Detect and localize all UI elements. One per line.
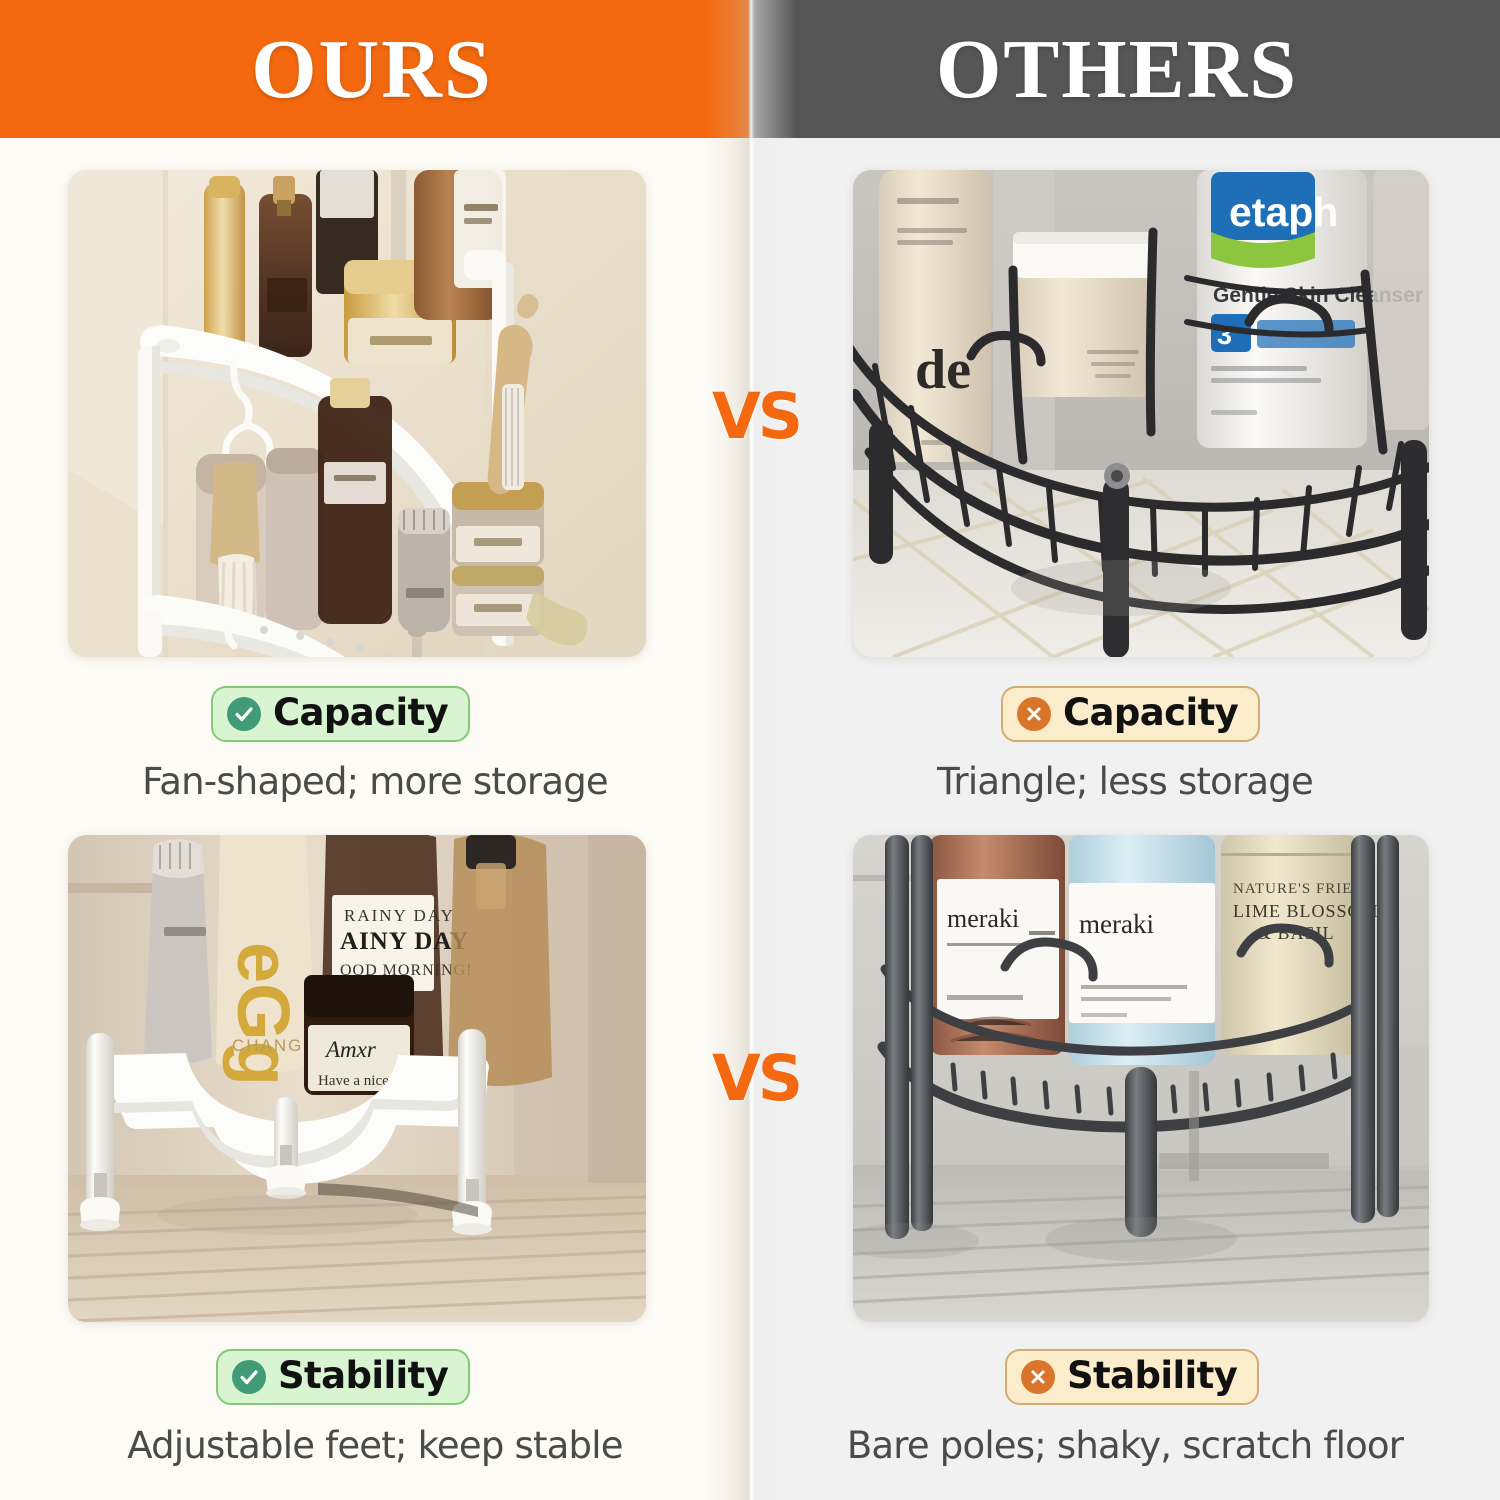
svg-text:eGg: eGg [222,942,305,1086]
ours-capacity-illustration [68,170,646,657]
others-stability-badge-label: Stability [1067,1357,1237,1394]
svg-text:RAINY DAY: RAINY DAY [344,906,455,925]
vs-marker-capacity: VS [712,380,800,453]
svg-text:meraki: meraki [947,904,1019,933]
others-capacity-badge-label: Capacity [1063,694,1238,731]
comparison-infographic: OURS OTHERS [0,0,1500,1500]
ours-header-bar: OURS [0,0,752,138]
ours-stability-badge: Stability [216,1349,470,1405]
svg-text:de: de [915,339,971,401]
x-circle-icon [1021,1360,1055,1394]
ours-stability-badge-label: Stability [278,1357,448,1394]
x-circle-icon [1017,697,1051,731]
others-capacity-badge: Capacity [1001,686,1260,742]
others-capacity-caption: Triangle; less storage [750,760,1500,803]
check-circle-icon [227,697,261,731]
ours-header-title: OURS [251,21,492,118]
ours-capacity-badge: Capacity [211,686,470,742]
ours-capacity-photo [68,170,646,657]
check-circle-icon [232,1360,266,1394]
ours-stability-illustration: eGg CHANGE RAINY DAY AINY DAY OOD MORNIN… [68,835,646,1322]
others-stability-photo: meraki meraki NATURE'S FRIEND LIME BLOSS… [853,835,1429,1322]
others-stability-caption: Bare poles; shaky, scratch floor [750,1424,1500,1467]
svg-text:3: 3 [1217,320,1232,350]
svg-text:Amxr: Amxr [324,1037,377,1062]
svg-text:AINY DAY: AINY DAY [340,928,469,955]
ours-capacity-caption: Fan-shaped; more storage [0,760,750,803]
svg-text:etaph: etaph [1229,189,1338,235]
ours-stability-photo: eGg CHANGE RAINY DAY AINY DAY OOD MORNIN… [68,835,646,1322]
vs-marker-stability: VS [712,1042,800,1115]
others-capacity-photo: de etaph Gentle Skin Cleanser 3 [853,170,1429,657]
others-header-bar: OTHERS [750,0,1500,138]
others-stability-badge: Stability [1005,1349,1259,1405]
others-capacity-illustration: de etaph Gentle Skin Cleanser 3 [853,170,1429,657]
ours-stability-caption: Adjustable feet; keep stable [0,1424,750,1467]
ours-capacity-badge-label: Capacity [273,694,448,731]
others-header-title: OTHERS [936,21,1298,118]
svg-text:meraki: meraki [1079,909,1154,939]
others-stability-illustration: meraki meraki NATURE'S FRIEND LIME BLOSS… [853,835,1429,1322]
